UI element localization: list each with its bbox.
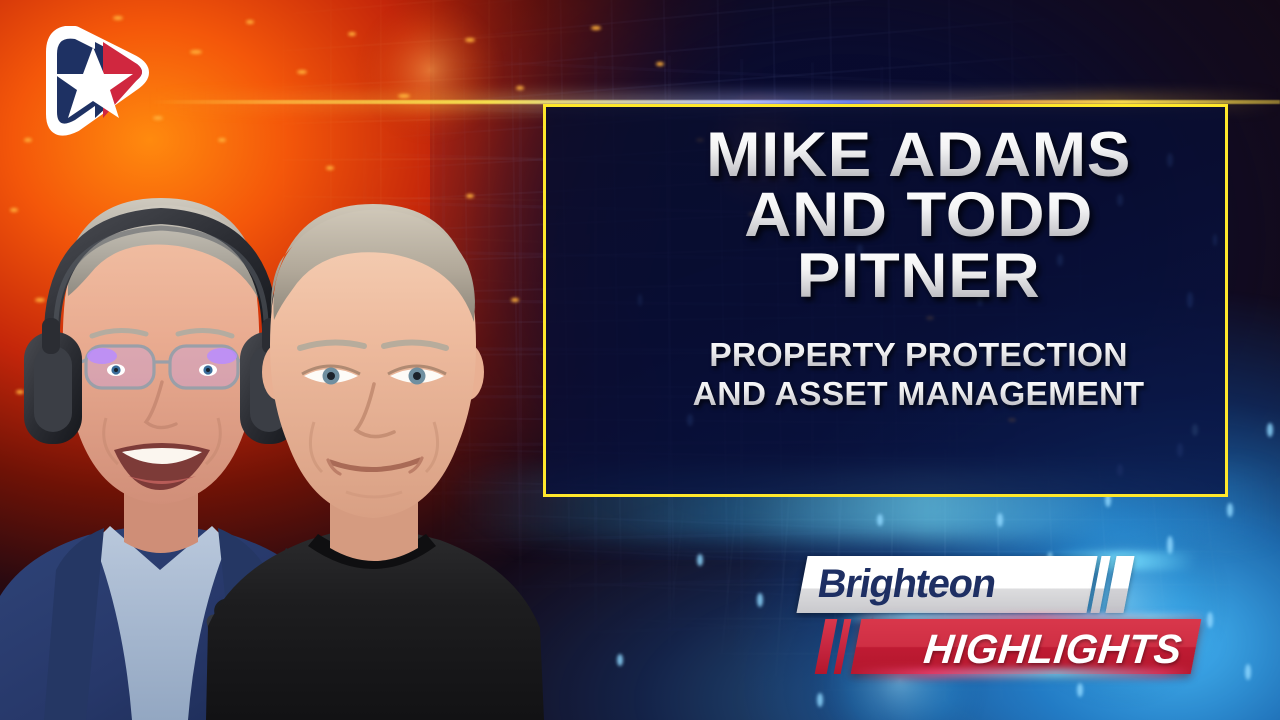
brighteon-highlights-banner[interactable]: ★ Brighteon HIGHLIGHTS (796, 556, 1216, 680)
highlights-wordmark: HIGHLIGHTS (922, 626, 1185, 673)
banner-bottom-glow (845, 669, 1197, 678)
brighteon-play-star-logo[interactable] (33, 26, 151, 142)
subtitle-line-1: PROPERTY PROTECTION (600, 336, 1238, 375)
title-line-1: MIKE ADAMS (594, 125, 1244, 185)
thumbnail-canvas: MIKE ADAMS AND TODD PITNER PROPERTY PROT… (0, 0, 1280, 720)
banner-red-slash-2 (834, 619, 852, 674)
banner-red-slash-1 (815, 619, 838, 674)
title-line-2: AND TODD (594, 185, 1244, 245)
title-card-content: MIKE ADAMS AND TODD PITNER PROPERTY PROT… (606, 125, 1231, 414)
subtitle-line-2: AND ASSET MANAGEMENT (600, 375, 1238, 414)
brighteon-wordmark: Brighteon (814, 562, 998, 607)
title-card: MIKE ADAMS AND TODD PITNER PROPERTY PROT… (543, 104, 1228, 497)
title-line-3: PITNER (594, 246, 1244, 306)
